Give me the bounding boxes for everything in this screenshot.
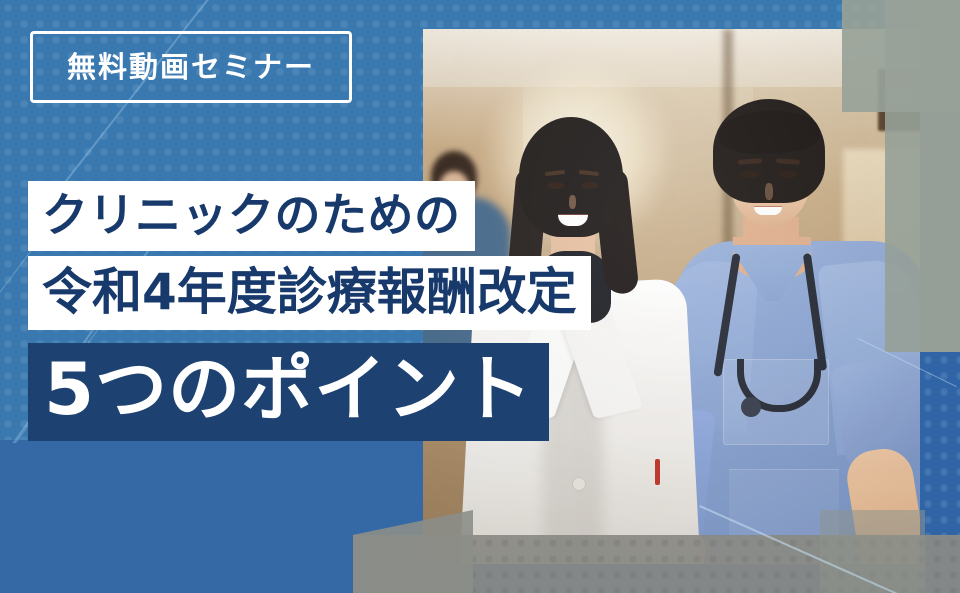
headline-row-3: 5つのポイント: [28, 343, 549, 441]
headline-line-1: クリニックのための: [28, 181, 475, 251]
top-right-gray-block: [842, 0, 960, 112]
seminar-banner: 無料動画セミナー クリニックのための 令和4年度診療報酬改定 5つのポイント: [0, 0, 960, 593]
free-video-seminar-badge: 無料動画セミナー: [30, 31, 352, 103]
badge-label: 無料動画セミナー: [67, 53, 315, 82]
headline-row-2: 令和4年度診療報酬改定: [28, 256, 591, 330]
headline-line-3: 5つのポイント: [28, 343, 549, 441]
bottom-right-gray-block: [820, 510, 925, 593]
bottom-left-blue-block: [0, 443, 353, 593]
headline-row-1: クリニックのための: [28, 181, 475, 251]
headline-line-2: 令和4年度診療報酬改定: [28, 256, 591, 330]
